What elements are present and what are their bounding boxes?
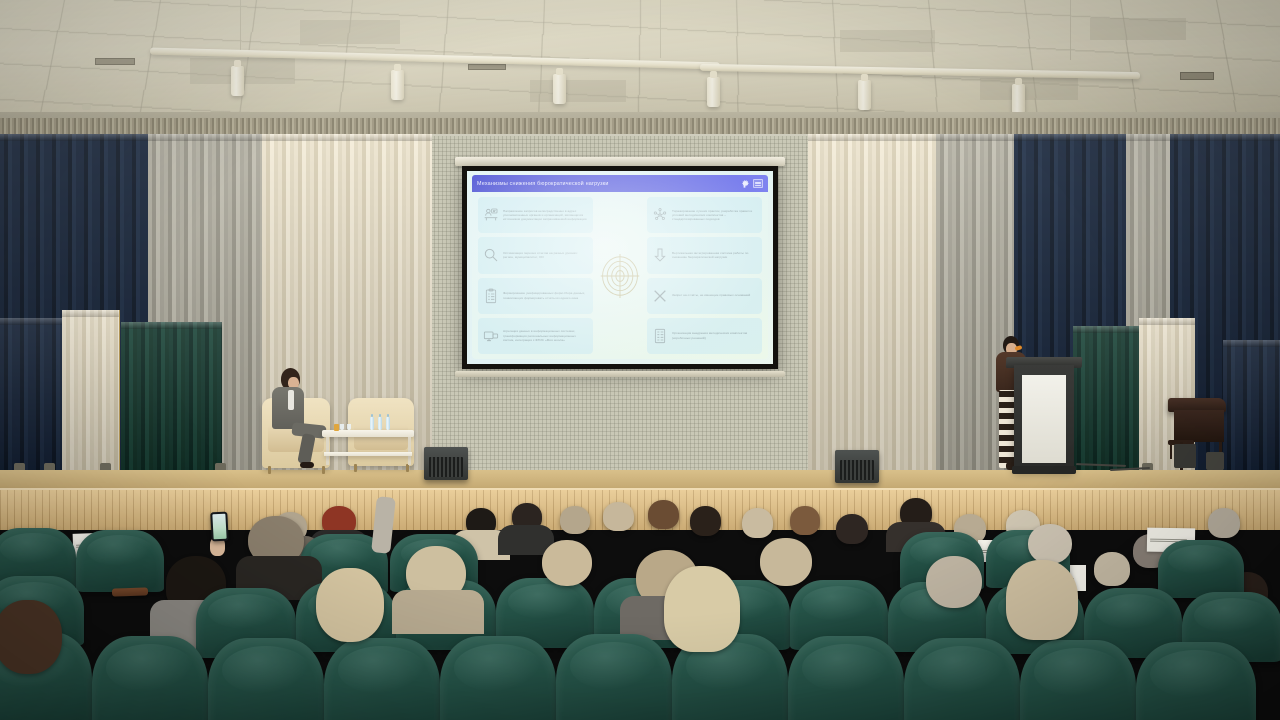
audience-seat (208, 638, 324, 720)
audience-head (836, 514, 868, 544)
slide-card: Агрегация данных в информационных систем… (478, 318, 593, 354)
slide-card: Запрет на отчёты, не имеющие правовых ос… (647, 278, 762, 314)
podium-front-panel (1022, 375, 1066, 463)
projector-screen-case (455, 157, 785, 166)
ceiling-spotlight (553, 74, 566, 104)
slide-body: Направление запросов непосредственно в а… (472, 192, 768, 359)
cross-ban-icon (652, 288, 668, 304)
stage-curtain-green-left (121, 322, 222, 472)
audience-seat (1136, 642, 1256, 720)
slide-card-text: Запрет на отчёты, не имеющие правовых ос… (672, 293, 750, 297)
network-nodes-icon (652, 207, 668, 223)
water-bottle (386, 417, 390, 430)
audience-head (1094, 552, 1130, 586)
slide-card-text: Вертикальная интегрированная система раб… (672, 251, 757, 260)
audience-head (760, 538, 812, 586)
light-drop-wire (240, 0, 241, 50)
armchair-leg (354, 464, 357, 472)
slide-card: Вертикальная интегрированная система раб… (647, 237, 762, 273)
ceiling-spotlight (231, 66, 244, 96)
projector-screen-weight-bar (455, 371, 785, 377)
slide-card: Оптимизация перечня отчетов на разных ур… (478, 237, 593, 273)
ceiling-spotlight (707, 77, 720, 107)
double-headed-eagle-emblem (739, 179, 750, 189)
drinking-glass (340, 424, 344, 430)
moderator-shoe (300, 462, 314, 468)
ceiling-vent (468, 64, 506, 70)
piano-bench-leg (1170, 445, 1172, 459)
auditorium-scene: Механизмы снижения бюрократической нагру… (0, 0, 1280, 720)
audience-seat (788, 636, 904, 720)
ceiling-tile-panel (840, 30, 935, 52)
stage-monitor-left (424, 447, 468, 480)
audience-head (648, 500, 679, 529)
document-list-icon (652, 328, 668, 344)
audience-head (560, 506, 590, 534)
audience-seat (76, 530, 164, 592)
slide-logos (739, 179, 763, 189)
juice-glass (334, 424, 339, 431)
slide-card-text: Оптимизация перечня отчетов на разных ур… (503, 251, 588, 260)
water-bottle (370, 417, 374, 430)
presentation-slide: Механизмы снижения бюрократической нагру… (467, 171, 773, 364)
slide-card: Тиражирование лучших практик, разработка… (647, 197, 762, 233)
stage-curtain-cream-left (62, 310, 120, 472)
stage-curtain-navy-left (0, 318, 62, 472)
person-at-desk-icon (483, 207, 499, 223)
suspended-ceiling (0, 0, 1280, 124)
armchair-leg (322, 466, 325, 474)
coffee-table-shelf (324, 452, 412, 456)
audience-head (664, 566, 740, 652)
slide-card: Формирование унифицированных форм сбора … (478, 278, 593, 314)
water-bottle (378, 417, 382, 430)
armchair-leg (268, 466, 271, 474)
ceiling-tile-panel (980, 78, 1078, 100)
ministry-logo (753, 179, 763, 188)
audience-head (1006, 560, 1078, 640)
ceiling-vent (1180, 72, 1214, 80)
stage-curtain-navy-far-right (1223, 340, 1280, 472)
armchair-leg (406, 464, 409, 472)
phone-screen (212, 514, 226, 540)
seat-armrest (112, 587, 148, 596)
slide-title: Механизмы снижения бюрократической нагру… (477, 181, 609, 187)
audience-seat (1020, 640, 1136, 720)
coffee-table-top (322, 430, 414, 437)
audience-head (0, 600, 62, 674)
audience-seat (324, 638, 440, 720)
audience-head (790, 506, 820, 535)
ceiling-spotlight (858, 80, 871, 110)
slide-card: Организация внедрения методических компл… (647, 318, 762, 354)
magnifier-icon (483, 247, 499, 263)
slide-card-text: Тиражирование лучших практик, разработка… (672, 209, 757, 222)
slide-card-text: Направление запросов непосредственно в а… (503, 209, 588, 222)
ceiling-tile-panel (1090, 18, 1186, 40)
ceiling-tile-panel (530, 80, 626, 102)
smoke-detector (82, 104, 91, 110)
slide-card-text: Агрегация данных в информационных систем… (503, 329, 588, 342)
audience-seat (440, 636, 556, 720)
ceiling-vent (95, 58, 135, 65)
audience-seat (92, 636, 208, 720)
slide-card-text: Организация внедрения методических компл… (672, 331, 757, 340)
light-drop-wire (1070, 0, 1071, 60)
audience-seat (1158, 540, 1244, 598)
coffee-table-leg (326, 437, 329, 465)
grand-piano-body (1174, 410, 1224, 442)
stage-equipment-case (1206, 452, 1224, 470)
audience-head (542, 540, 592, 586)
clipboard-checklist-icon (483, 288, 499, 304)
projection-surface: Механизмы снижения бюрократической нагру… (467, 171, 773, 364)
drinking-glass (347, 424, 351, 430)
stage-equipment-case (1174, 444, 1196, 468)
audience-head (603, 502, 634, 531)
down-arrow-icon (652, 247, 668, 263)
audience-head (690, 506, 721, 536)
audience-head (316, 568, 384, 642)
audience-head (1028, 524, 1072, 564)
stage-monitor-right (835, 450, 879, 483)
coffee-table-leg (408, 437, 411, 465)
audience-seat (556, 634, 672, 720)
monitor-data-icon (483, 328, 499, 344)
audience-shoulders (392, 590, 484, 634)
audience-seat (904, 638, 1020, 720)
ceiling-tile-panel (300, 20, 400, 44)
light-drop-wire (660, 0, 661, 58)
podium-base (1012, 466, 1076, 474)
ceiling-spotlight (391, 70, 404, 100)
audience-head (926, 556, 982, 608)
moderator-blouse (288, 390, 294, 410)
slide-card: Направление запросов непосредственно в а… (478, 197, 593, 233)
projection-screen: Механизмы снижения бюрократической нагру… (462, 166, 778, 369)
audience-head (742, 508, 773, 538)
smartphone-recording[interactable] (210, 512, 228, 542)
ceiling-spotlight (1012, 84, 1025, 114)
stage-front-panel (0, 488, 1280, 530)
target-radar-icon (598, 253, 642, 299)
slide-header: Механизмы снижения бюрократической нагру… (472, 175, 768, 192)
curtain-cream-right-wide (808, 134, 936, 472)
audience-head (1208, 508, 1240, 538)
slide-card-text: Формирование унифицированных форм сбора … (503, 291, 588, 300)
